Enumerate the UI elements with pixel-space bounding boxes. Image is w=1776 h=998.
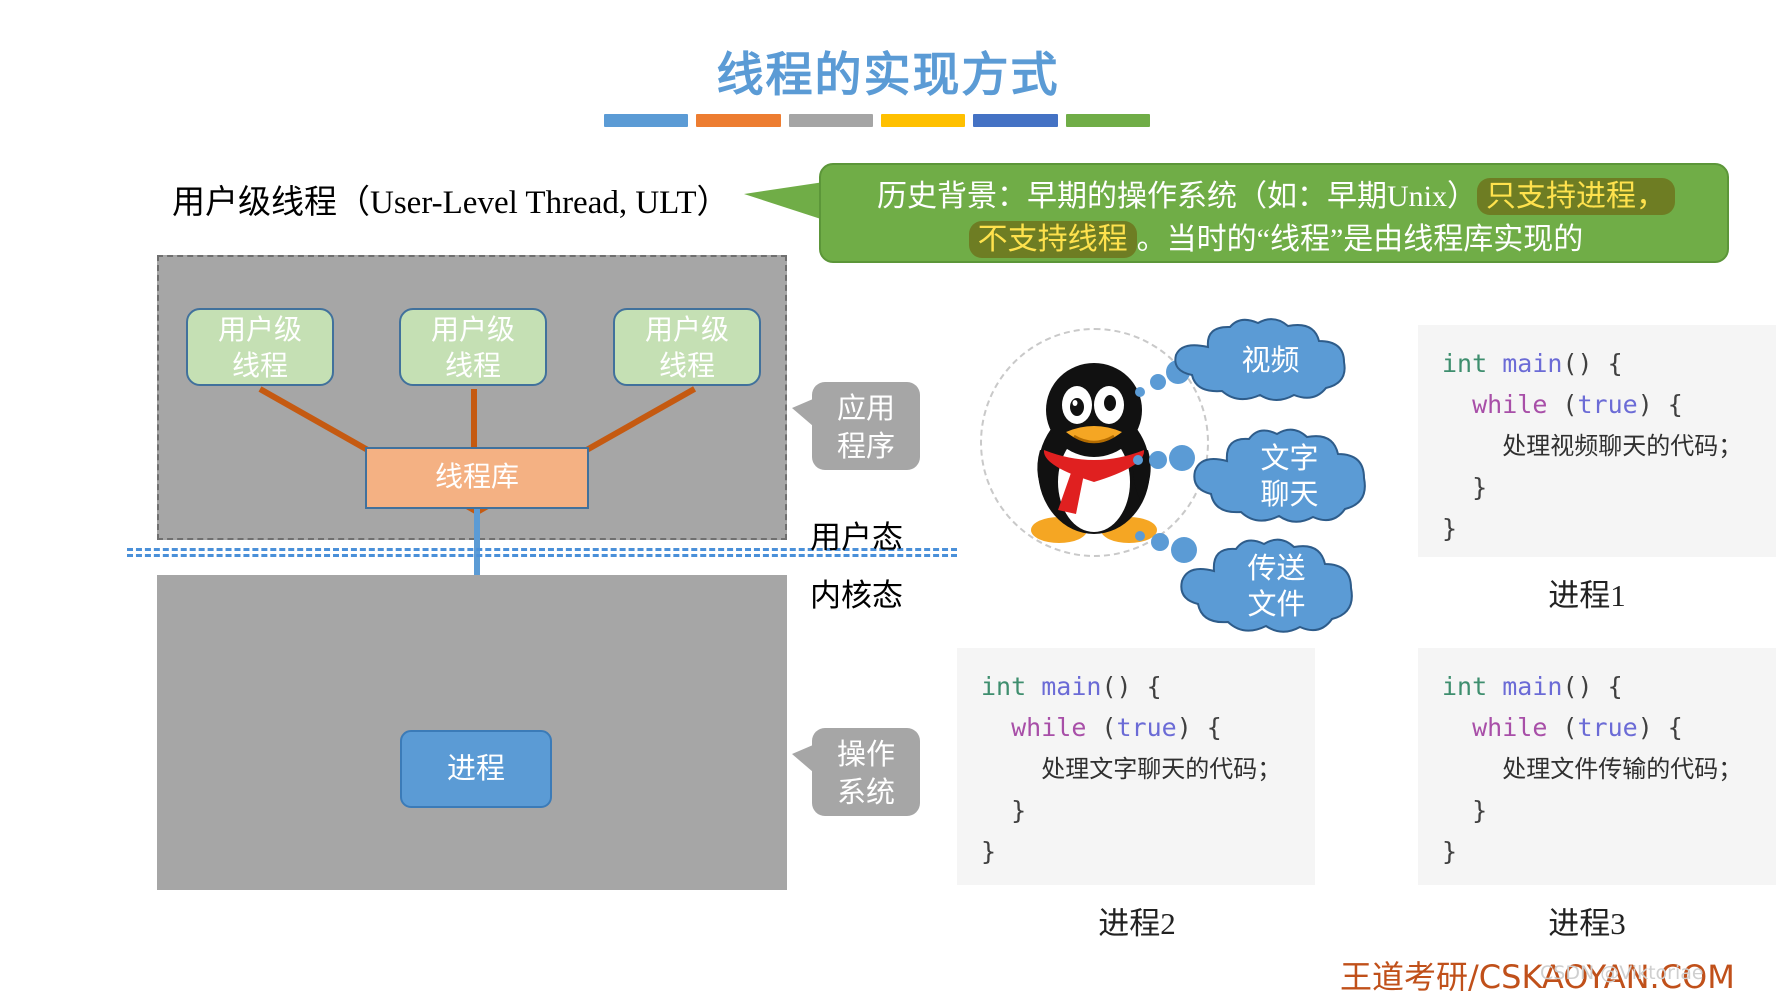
accent-seg-3 <box>789 114 873 127</box>
code-token: } <box>1442 514 1457 543</box>
code-token: } <box>981 837 996 866</box>
code-token: ( <box>1562 713 1577 742</box>
cloud-bubble-text-chat: 文字聊天 <box>1183 427 1378 527</box>
code-line: } <box>1442 508 1776 549</box>
process-label-3: 进程3 <box>1487 898 1687 943</box>
callout-highlight-1: 只支持进程， <box>1477 178 1675 215</box>
code-line: } <box>1442 831 1776 872</box>
code-token: int <box>1442 349 1502 378</box>
callout-highlight-2: 不支持线程 <box>969 221 1137 258</box>
ult-box-1-line1: 用户级 <box>188 313 332 349</box>
cloud-3-label: 传送文件 <box>1229 551 1305 623</box>
cloud-1-label: 视频 <box>1223 343 1299 379</box>
code-line: 处理文件传输的代码； <box>1442 748 1776 790</box>
page-title: 线程的实现方式 <box>0 36 1776 105</box>
callout-text-plain-2: 。当时的“线程”是由线程库实现的 <box>1137 223 1584 256</box>
code-token: true <box>1577 390 1637 419</box>
code-token: () { <box>1562 672 1622 701</box>
code-token: true <box>1116 713 1176 742</box>
code-line: } <box>1442 790 1776 831</box>
accent-seg-4 <box>881 114 965 127</box>
user-level-thread-box-2: 用户级 线程 <box>399 308 547 386</box>
code-line: int main() { <box>981 666 1315 707</box>
code-block-3: int main() { while (true) { 处理文件传输的代码； }… <box>1418 648 1776 885</box>
code-token: main <box>1502 349 1562 378</box>
code-token: while <box>1472 390 1562 419</box>
watermark-overlay: CSDN @Viktoriae <box>1540 962 1704 984</box>
code-line: } <box>1442 467 1776 508</box>
code-line: int main() { <box>1442 343 1776 384</box>
user-level-thread-box-3: 用户级 线程 <box>613 308 761 386</box>
cloud-bubble-video: 视频 <box>1164 317 1359 404</box>
code-block-1: int main() { while (true) { 处理视频聊天的代码； }… <box>1418 325 1776 557</box>
ult-box-2-line2: 线程 <box>401 349 545 385</box>
code-token: 处理文字聊天的代码； <box>1041 755 1281 783</box>
accent-seg-2 <box>696 114 780 127</box>
code-token: while <box>1472 713 1562 742</box>
os-callout-line2: 系统 <box>812 774 920 812</box>
thread-library-box: 线程库 <box>365 447 589 509</box>
code-token: ) { <box>1177 713 1222 742</box>
code-token: 处理视频聊天的代码； <box>1502 432 1742 460</box>
cloud-bubble-file-transfer: 传送文件 <box>1170 537 1365 637</box>
code-line: while (true) { <box>1442 707 1776 748</box>
application-callout-line2: 程序 <box>812 428 920 466</box>
cloud-2-line1: 文字 <box>1260 443 1318 475</box>
code-token: true <box>1577 713 1637 742</box>
accent-seg-1 <box>604 114 688 127</box>
process-label-2: 进程2 <box>1037 898 1237 943</box>
ult-box-1-line2: 线程 <box>188 349 332 385</box>
cloud-3-line2: 文件 <box>1247 589 1305 621</box>
ult-box-2-line1: 用户级 <box>401 313 545 349</box>
process-label-1: 进程1 <box>1487 570 1687 615</box>
ult-box-3-line1: 用户级 <box>615 313 759 349</box>
application-callout: 应用 程序 <box>812 382 920 470</box>
code-token: 处理文件传输的代码； <box>1502 755 1742 783</box>
cloud-3-line1: 传送 <box>1247 553 1305 585</box>
code-token: () { <box>1101 672 1161 701</box>
code-line: } <box>981 790 1315 831</box>
user-mode-label: 用户态 <box>810 512 903 557</box>
code-block-2: int main() { while (true) { 处理文字聊天的代码； }… <box>957 648 1315 885</box>
callout-line-1: 历史背景：早期的操作系统（如：早期Unix）只支持进程， <box>847 175 1705 218</box>
accent-seg-6 <box>1066 114 1150 127</box>
process-box: 进程 <box>400 730 552 808</box>
code-token: ( <box>1562 390 1577 419</box>
title-accent-bar <box>604 114 1150 127</box>
ult-heading: 用户级线程（User-Level Thread, ULT） <box>172 175 729 223</box>
code-token: ( <box>1101 713 1116 742</box>
code-line: int main() { <box>1442 666 1776 707</box>
code-token: int <box>1442 672 1502 701</box>
code-token: while <box>1011 713 1101 742</box>
code-token: ) { <box>1638 390 1683 419</box>
code-line: } <box>981 831 1315 872</box>
code-token: int <box>981 672 1041 701</box>
code-token: () { <box>1562 349 1622 378</box>
code-line: 处理文字聊天的代码； <box>981 748 1315 790</box>
user-level-thread-box-1: 用户级 线程 <box>186 308 334 386</box>
kernel-mode-label: 内核态 <box>810 570 903 615</box>
history-callout: 历史背景：早期的操作系统（如：早期Unix）只支持进程， 不支持线程。当时的“线… <box>819 163 1729 263</box>
accent-seg-5 <box>973 114 1057 127</box>
code-token: main <box>1502 672 1562 701</box>
operating-system-callout: 操作 系统 <box>812 728 920 816</box>
code-line: while (true) { <box>981 707 1315 748</box>
code-token: } <box>1442 837 1457 866</box>
code-line: while (true) { <box>1442 384 1776 425</box>
code-token: } <box>1472 796 1487 825</box>
code-token: ) { <box>1638 713 1683 742</box>
code-line: 处理视频聊天的代码； <box>1442 425 1776 467</box>
cloud-2-label: 文字聊天 <box>1242 441 1318 513</box>
cloud-2-line2: 聊天 <box>1260 479 1318 511</box>
os-callout-line1: 操作 <box>812 736 920 774</box>
code-token: } <box>1011 796 1026 825</box>
ult-box-3-line2: 线程 <box>615 349 759 385</box>
callout-tail <box>744 182 824 220</box>
callout-line-2: 不支持线程。当时的“线程”是由线程库实现的 <box>847 218 1705 261</box>
application-callout-line1: 应用 <box>812 390 920 428</box>
code-token: main <box>1041 672 1101 701</box>
code-token: } <box>1472 473 1487 502</box>
callout-text-plain-1: 历史背景：早期的操作系统（如：早期Unix） <box>877 180 1477 213</box>
